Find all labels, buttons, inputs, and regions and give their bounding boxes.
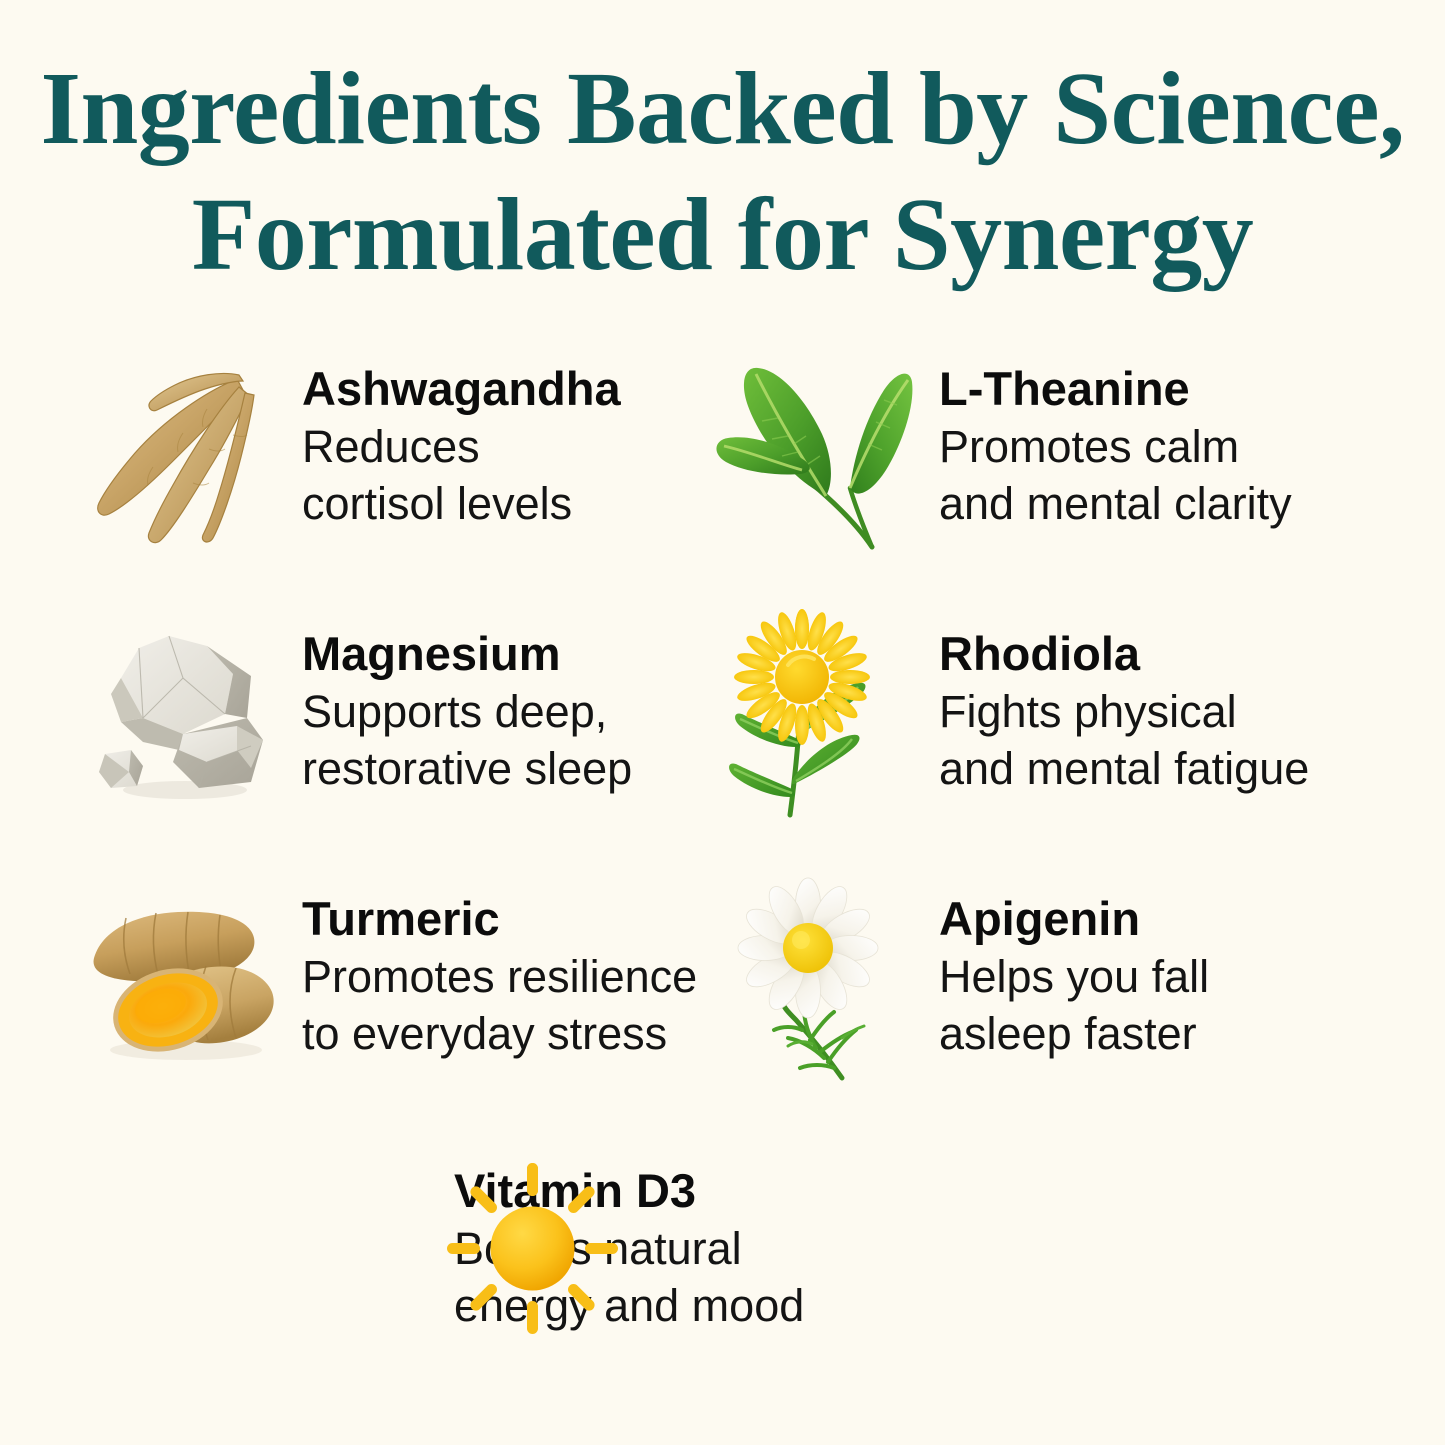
ingredient-name: Apigenin <box>939 890 1209 948</box>
ingredient-text: Magnesium Supports deep, restorative sle… <box>282 617 632 797</box>
ingredient-item-apigenin: Apigenin Helps you fall asleep faster <box>719 882 1374 1147</box>
ingredient-text: Turmeric Promotes resilience to everyday… <box>282 882 697 1062</box>
ingredient-name: Turmeric <box>302 890 697 948</box>
turmeric-root-icon <box>82 882 282 1082</box>
tea-leaves-icon <box>719 352 919 552</box>
ingredient-description: Supports deep, restorative sleep <box>302 683 632 797</box>
ashwagandha-root-icon <box>82 352 282 552</box>
ingredient-name: Ashwagandha <box>302 360 621 418</box>
ingredient-text: Apigenin Helps you fall asleep faster <box>919 882 1209 1062</box>
ingredient-text: Rhodiola Fights physical and mental fati… <box>919 617 1309 797</box>
ingredients-poster: Ingredients Backed by Science, Formulate… <box>0 0 1445 1445</box>
chamomile-daisy-icon <box>719 882 919 1082</box>
ingredient-item-magnesium: Magnesium Supports deep, restorative sle… <box>74 617 719 882</box>
ingredient-item-ashwagandha: Ashwagandha Reduces cortisol levels <box>74 352 719 617</box>
ingredient-item-vitamin-d3: Vitamin D3 Boosts natural energy and moo… <box>432 1148 804 1334</box>
ingredient-description: Promotes resilience to everyday stress <box>302 948 697 1062</box>
ingredient-description: Helps you fall asleep faster <box>939 948 1209 1062</box>
page-title-line-2: Formulated for Synergy <box>0 172 1445 298</box>
ingredient-text: Ashwagandha Reduces cortisol levels <box>282 352 621 532</box>
page-title-line-1: Ingredients Backed by Science, <box>0 46 1445 172</box>
yellow-flower-icon <box>719 617 919 817</box>
ingredient-description: Fights physical and mental fatigue <box>939 683 1309 797</box>
ingredient-name: L-Theanine <box>939 360 1292 418</box>
ingredient-item-l-theanine: L-Theanine Promotes calm and mental clar… <box>719 352 1374 617</box>
ingredient-item-rhodiola: Rhodiola Fights physical and mental fati… <box>719 617 1374 882</box>
page-title: Ingredients Backed by Science, Formulate… <box>0 46 1445 298</box>
ingredient-name: Magnesium <box>302 625 632 683</box>
ingredient-description: Reduces cortisol levels <box>302 418 621 532</box>
ingredient-description: Promotes calm and mental clarity <box>939 418 1292 532</box>
ingredient-name: Rhodiola <box>939 625 1309 683</box>
ingredient-item-turmeric: Turmeric Promotes resilience to everyday… <box>74 882 719 1147</box>
ingredients-grid: Ashwagandha Reduces cortisol levels <box>74 352 1374 1147</box>
ingredient-text: L-Theanine Promotes calm and mental clar… <box>919 352 1292 532</box>
sun-icon <box>432 1148 632 1348</box>
mineral-rock-icon <box>82 617 282 817</box>
